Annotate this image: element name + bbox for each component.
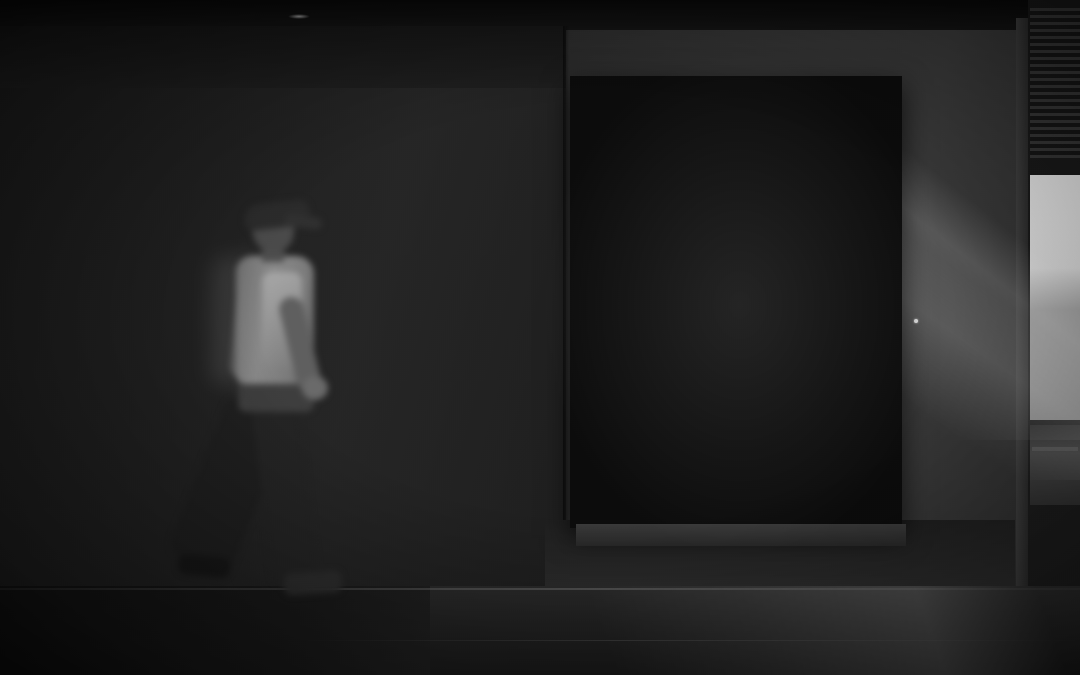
person-shoe-front	[283, 570, 342, 596]
person-leg-front	[251, 398, 319, 588]
doorway-jamb	[1016, 18, 1028, 588]
photo-scene: Kodak TX-400 PowerPoint Animations for D…	[0, 0, 1080, 675]
person-hand	[302, 376, 328, 400]
poster-frame[interactable]: Kodak TX-400 PowerPoint Animations for D…	[570, 76, 902, 528]
bright-window-pane	[1030, 175, 1080, 420]
wall-corner-edge	[563, 26, 569, 588]
floor-tile-seam	[300, 640, 1080, 641]
poster-frame-base	[576, 524, 906, 546]
floor-light-pool	[560, 586, 1080, 675]
ceiling-spotlight	[288, 14, 310, 19]
window-blinds	[1030, 8, 1080, 158]
person-shoe-back	[177, 553, 231, 578]
walking-person	[176, 200, 376, 612]
wall-upper-band	[0, 26, 566, 88]
wall-marker-dot	[914, 319, 918, 323]
far-room-furniture	[1030, 425, 1080, 505]
